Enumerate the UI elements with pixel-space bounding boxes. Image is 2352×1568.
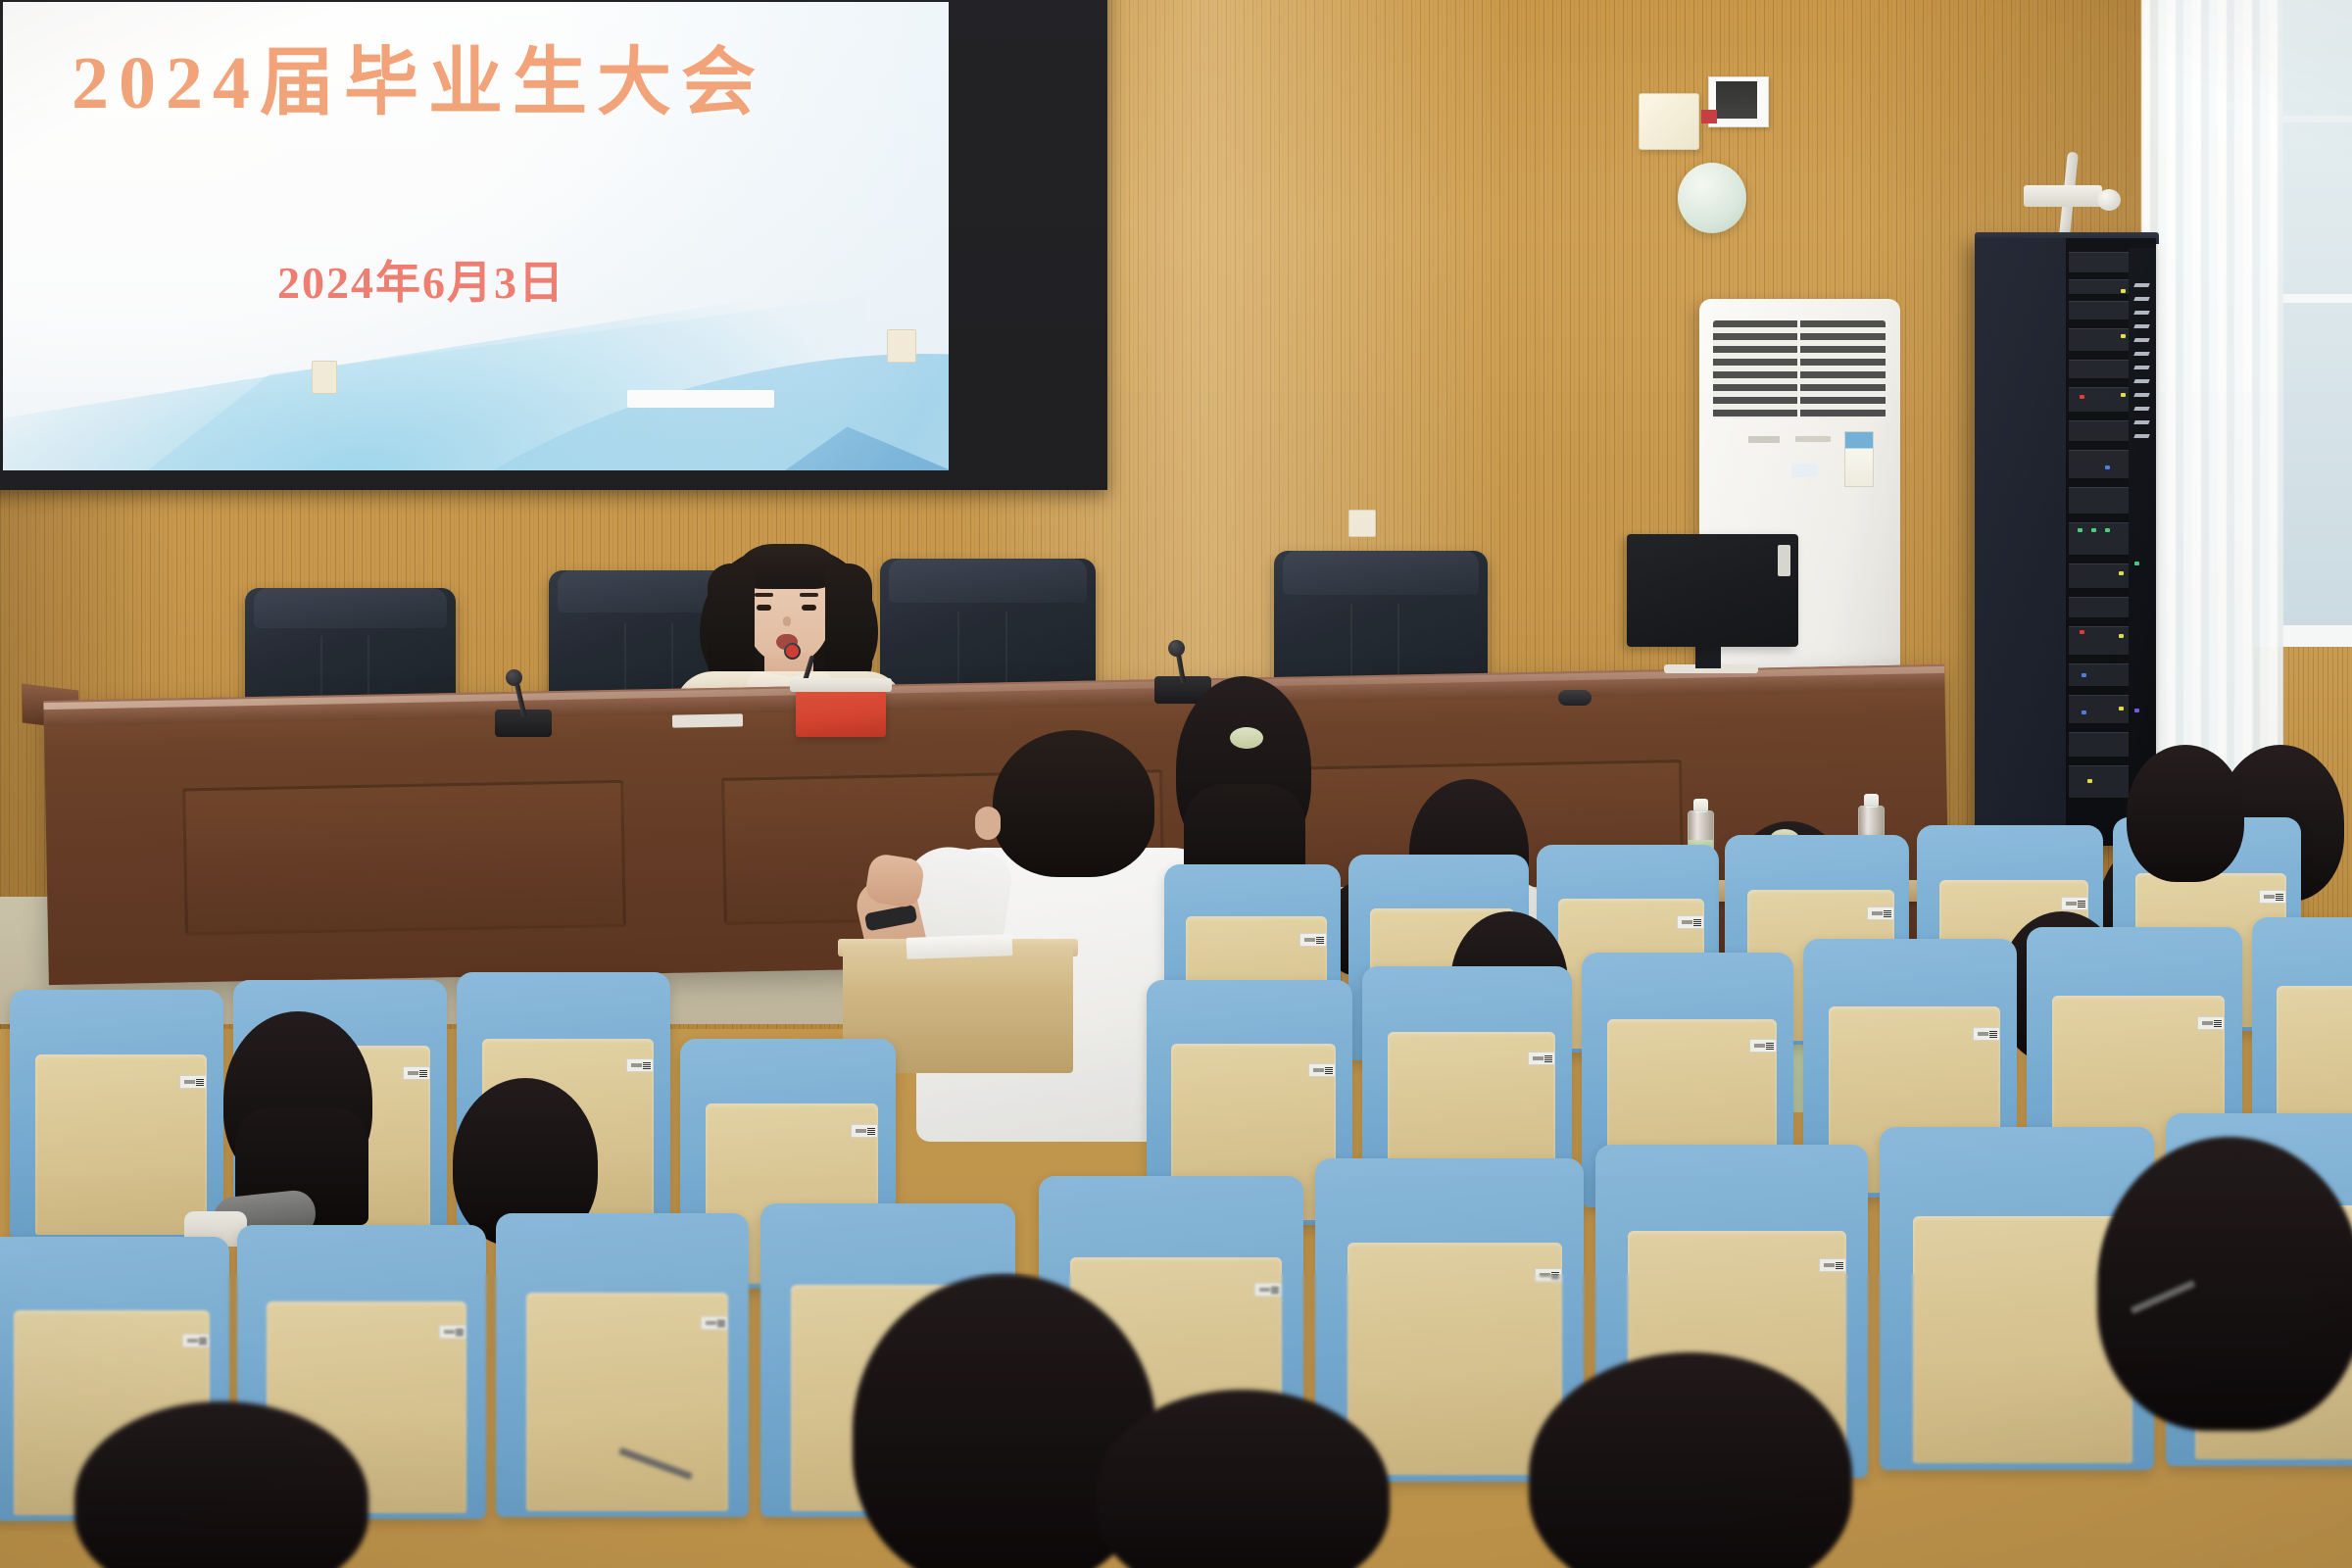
seat-qr-icon — [2078, 900, 2085, 907]
foreground-person-b — [1096, 1390, 1390, 1568]
seat-qr-icon — [1325, 1066, 1333, 1074]
head-table-surface — [43, 664, 1944, 726]
seat-label-text — [1304, 938, 1315, 942]
mic-indicator-ring — [786, 645, 799, 658]
seat-label — [1254, 1283, 1282, 1297]
head-table-panel — [182, 780, 626, 936]
seat-label — [1819, 1258, 1846, 1272]
seat-label — [2197, 1016, 2225, 1030]
seat-label — [1973, 1027, 2000, 1041]
seat-label-text — [444, 1330, 455, 1334]
seat-qr-icon — [456, 1328, 464, 1336]
seat-label-text — [631, 1063, 642, 1067]
seat-label-text — [706, 1321, 716, 1325]
seat-qr-icon — [196, 1078, 204, 1086]
seat-label — [2061, 897, 2088, 910]
hair — [2097, 1137, 2352, 1431]
seat-qr-icon — [1316, 936, 1324, 944]
seat-label-text — [184, 1080, 195, 1084]
seat-label — [1535, 1268, 1562, 1282]
seat-qr-icon — [1836, 1261, 1843, 1269]
man-head — [993, 730, 1154, 877]
handout-paper — [906, 934, 1013, 959]
seat-qr-icon — [867, 1127, 875, 1135]
seat-label — [182, 1334, 210, 1347]
seat-label-text — [856, 1129, 866, 1133]
auditorium-seat[interactable] — [496, 1213, 749, 1517]
seat-label — [701, 1316, 728, 1330]
seat-label — [1749, 1039, 1777, 1053]
seat-label — [1867, 906, 1894, 920]
foreground-person-d — [1529, 1352, 1852, 1568]
auditorium-seat[interactable] — [10, 990, 223, 1240]
seat-label-text — [1824, 1263, 1835, 1267]
monitor-badge — [1778, 545, 1790, 576]
seat-label-text — [408, 1071, 418, 1075]
seat-qr-icon — [1693, 918, 1701, 926]
seat-label — [403, 1066, 430, 1080]
seat-qr-icon — [1544, 1054, 1552, 1062]
seat-qr-icon — [1551, 1271, 1559, 1279]
hair — [1529, 1352, 1852, 1568]
seat-label — [179, 1075, 207, 1089]
hair — [1096, 1390, 1390, 1568]
seat-qr-icon — [419, 1069, 427, 1077]
seat-label-text — [1259, 1288, 1270, 1292]
seat-label-text — [1533, 1056, 1543, 1060]
seat-label — [851, 1124, 878, 1138]
seat-label-text — [2202, 1021, 2213, 1025]
desktop-monitor[interactable] — [1627, 534, 1798, 647]
table-paper — [672, 713, 743, 727]
seat-label-text — [2264, 895, 2275, 899]
seat-qr-icon — [2276, 893, 2283, 901]
seat-label — [439, 1325, 466, 1339]
red-document-box-lid — [790, 678, 892, 692]
foreground-person-e — [2097, 1137, 2352, 1431]
audience-person-far-right — [2127, 745, 2244, 882]
seat-qr-icon — [1766, 1042, 1774, 1050]
hair — [2127, 745, 2244, 882]
seat-label-text — [1540, 1273, 1550, 1277]
red-document-box[interactable] — [796, 686, 886, 737]
seat-qr-icon — [1884, 909, 1891, 917]
seat-label-text — [1978, 1032, 1988, 1036]
seat-label — [626, 1058, 654, 1072]
seat-label-text — [1682, 920, 1692, 924]
seat-qr-icon — [1989, 1030, 1997, 1038]
seat-qr-icon — [1271, 1286, 1279, 1294]
foreground-person-c — [74, 1401, 368, 1568]
seat-label — [2259, 890, 2286, 904]
hair — [74, 1401, 368, 1568]
seat-label-text — [2066, 902, 2077, 906]
seat-qr-icon — [2214, 1019, 2222, 1027]
seat-qr-icon — [643, 1061, 651, 1069]
auditorium-scene: 2024届毕业生大会 2024年6月3日 — [0, 0, 2352, 1568]
seat-label — [1299, 933, 1327, 947]
monitor-stand — [1695, 647, 1721, 668]
seat-label-text — [1754, 1044, 1765, 1048]
seat-label — [1528, 1052, 1555, 1065]
seat-label — [1677, 915, 1704, 929]
head-table-highlight — [43, 666, 1944, 710]
mic-capsule — [1168, 640, 1185, 657]
mic-capsule — [506, 669, 522, 686]
seat-label-text — [1313, 1068, 1324, 1072]
seat-label — [1308, 1063, 1336, 1077]
computer-mouse[interactable] — [1558, 690, 1592, 706]
seat-label-text — [1872, 911, 1883, 915]
seat-back-pad — [526, 1293, 728, 1511]
seat-qr-icon — [199, 1337, 207, 1345]
seat-qr-icon — [717, 1319, 725, 1327]
seat-label-text — [187, 1339, 198, 1343]
man-ear — [975, 807, 1001, 840]
hair-scrunchie — [1230, 727, 1263, 749]
